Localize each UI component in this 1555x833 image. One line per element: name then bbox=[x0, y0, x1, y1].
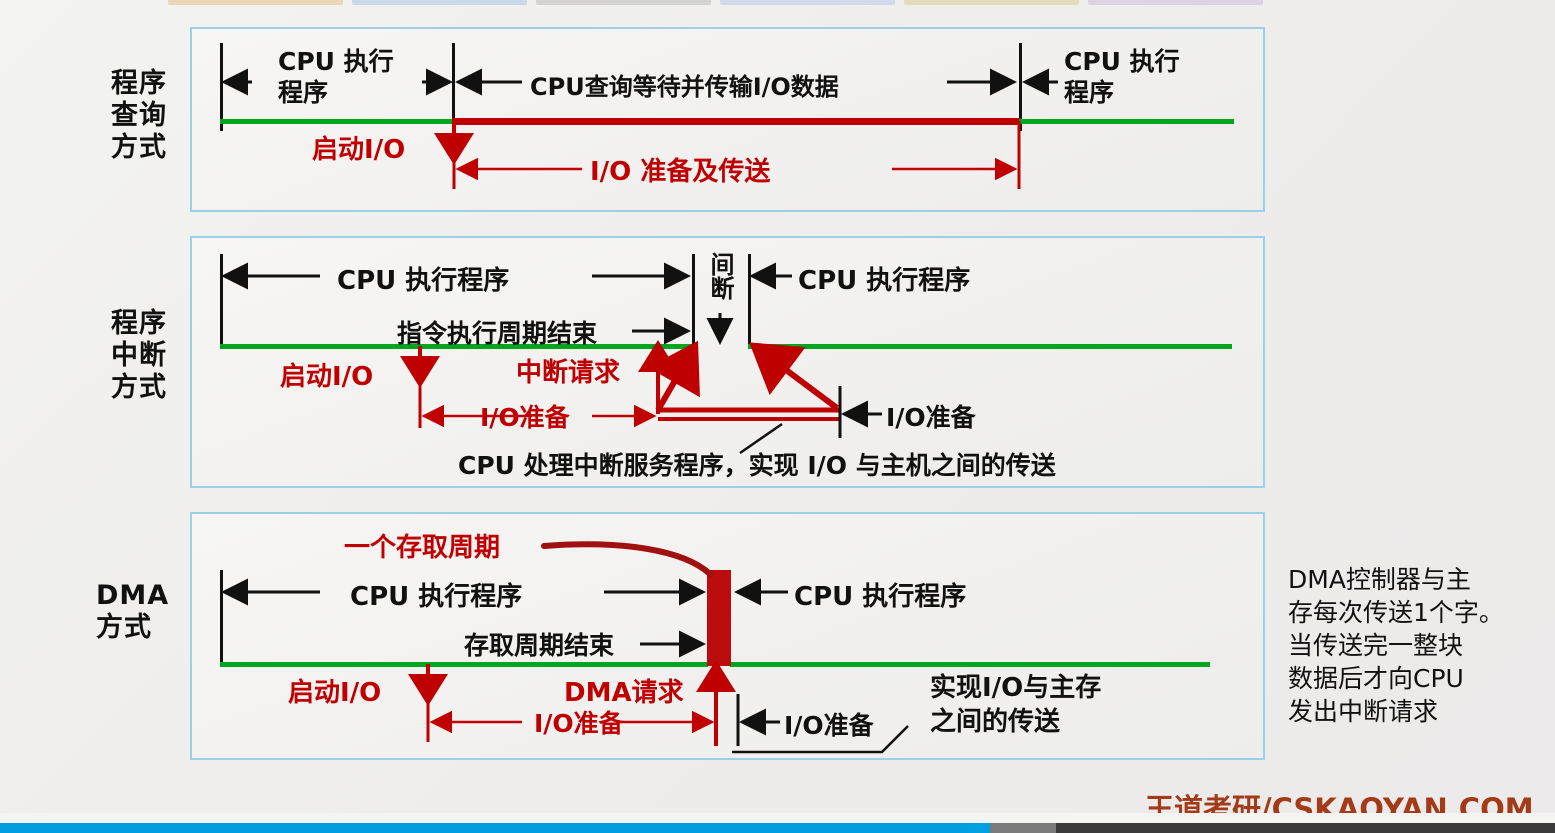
ribbon-tab-1[interactable] bbox=[352, 0, 527, 5]
panel-dma: 一个存取周期 CPU 执行程序 存取周期结束 CPU 执行程序 启动I/O DM… bbox=[190, 512, 1265, 760]
label-start-io: 启动I/O bbox=[312, 129, 405, 166]
label-access-cycle-end: 存取周期结束 bbox=[464, 626, 614, 662]
label-line: CPU 执行 bbox=[1064, 47, 1180, 78]
label-line: 程序 bbox=[278, 78, 394, 109]
row-label-line: 方式 bbox=[96, 612, 188, 644]
side-note-line: DMA控制器与主 bbox=[1288, 563, 1550, 596]
label-interrupt-request: 中断请求 bbox=[516, 352, 620, 389]
label-line: 之间的传送 bbox=[930, 706, 1101, 740]
row-label-interrupt: 程序 中断 方式 bbox=[96, 308, 182, 404]
label-io-prepare-right: I/O准备 bbox=[784, 706, 874, 742]
label-line: CPU 执行 bbox=[278, 47, 394, 78]
ribbon-tab-0[interactable] bbox=[168, 0, 343, 5]
label-isr-note: CPU 处理中断服务程序，实现 I/O 与主机之间的传送 bbox=[458, 446, 1056, 482]
label-cpu-exec-right: CPU 执行程序 bbox=[798, 260, 970, 297]
label-one-access-cycle: 一个存取周期 bbox=[344, 527, 500, 564]
ribbon-tab-3[interactable] bbox=[720, 0, 895, 5]
row-label-line: 查询 bbox=[96, 100, 182, 132]
baseline-green-left bbox=[220, 119, 454, 124]
side-note-line: 存每次传送1个字。 bbox=[1288, 596, 1550, 629]
label-io-prepare-left: I/O准备 bbox=[480, 398, 570, 434]
side-note: DMA控制器与主 存每次传送1个字。 当传送完一整块 数据后才向CPU 发出中断… bbox=[1288, 563, 1550, 728]
row-label-line: DMA bbox=[96, 580, 188, 612]
row-label-line: 方式 bbox=[96, 372, 182, 404]
progress-played bbox=[0, 823, 990, 833]
side-note-line: 数据后才向CPU bbox=[1288, 662, 1550, 695]
panel-polling: CPU 执行 程序 CPU查询等待并传输I/O数据 CPU 执行 程序 启动I/… bbox=[190, 27, 1265, 212]
label-start-io: 启动I/O bbox=[288, 672, 381, 709]
label-instr-cycle-end: 指令执行周期结束 bbox=[397, 314, 597, 350]
row-label-line: 程序 bbox=[96, 308, 182, 340]
label-cpu-exec-left: CPU 执行程序 bbox=[337, 260, 509, 297]
progress-buffered bbox=[990, 823, 1056, 833]
label-cpu-exec-left: CPU 执行 程序 bbox=[278, 47, 394, 108]
row-label-dma: DMA 方式 bbox=[96, 580, 188, 644]
label-line: 实现I/O与主存 bbox=[930, 672, 1101, 706]
label-line: 程序 bbox=[1064, 78, 1180, 109]
progress-pad bbox=[0, 813, 1555, 823]
ribbon-tab-strip bbox=[0, 0, 1555, 6]
baseline-green-right bbox=[748, 344, 1232, 349]
ribbon-tab-4[interactable] bbox=[904, 0, 1079, 5]
panel-interrupt: CPU 执行程序 指令执行周期结束 间断 CPU 执行程序 启动I/O 中断请求… bbox=[190, 236, 1265, 488]
tick-start bbox=[220, 254, 223, 348]
row-label-line: 程序 bbox=[96, 68, 182, 100]
video-progress-bar[interactable] bbox=[0, 823, 1555, 833]
tick-instr-end bbox=[692, 254, 695, 348]
label-cpu-exec-right: CPU 执行程序 bbox=[794, 576, 966, 613]
side-note-line: 当传送完一整块 bbox=[1288, 629, 1550, 662]
label-io-prepare-right: I/O准备 bbox=[886, 398, 976, 434]
row-label-line: 中断 bbox=[96, 340, 182, 372]
tick-start bbox=[220, 570, 223, 666]
tick-resume bbox=[748, 254, 751, 348]
label-transfer-note: 实现I/O与主存 之间的传送 bbox=[930, 672, 1101, 740]
ribbon-tab-2[interactable] bbox=[536, 0, 711, 5]
dma-access-cycle-block bbox=[707, 570, 731, 666]
label-io-prepare: I/O准备 bbox=[534, 704, 624, 740]
slide-canvas: 程序 查询 方式 bbox=[0, 0, 1555, 833]
ribbon-tab-5[interactable] bbox=[1088, 0, 1263, 5]
label-cpu-poll-wait: CPU查询等待并传输I/O数据 bbox=[530, 67, 839, 102]
baseline-green-right bbox=[1019, 119, 1234, 124]
label-cpu-exec-right: CPU 执行 程序 bbox=[1064, 47, 1180, 108]
side-note-line: 发出中断请求 bbox=[1288, 695, 1550, 728]
label-cpu-exec-left: CPU 执行程序 bbox=[350, 576, 522, 613]
row-label-polling: 程序 查询 方式 bbox=[96, 68, 182, 164]
label-io-prepare-transfer: I/O 准备及传送 bbox=[590, 151, 770, 188]
label-start-io: 启动I/O bbox=[280, 356, 373, 393]
tick-start bbox=[220, 43, 223, 131]
row-label-line: 方式 bbox=[96, 132, 182, 164]
baseline-green-left bbox=[220, 662, 708, 667]
label-interrupt-vertical: 间断 bbox=[708, 252, 732, 300]
baseline-red-io bbox=[452, 118, 1021, 125]
baseline-green-right bbox=[730, 662, 1210, 667]
